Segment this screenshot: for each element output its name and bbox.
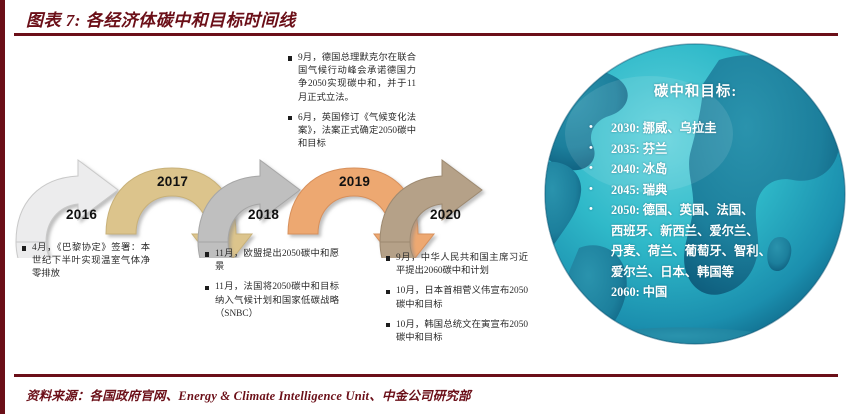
timeline-year-2017: 2017	[157, 174, 188, 189]
list-item: 9月，中华人民共和国主席习近平提出2060碳中和计划	[386, 252, 528, 278]
globe-graphic: 碳中和目标: 2030: 挪威、乌拉圭 2035: 芬兰 2040: 冰岛 20…	[543, 42, 848, 347]
header-divider	[14, 33, 838, 36]
list-item: 4月，《巴黎协定》签署：本世纪下半叶实现温室气体净零排放	[22, 242, 150, 282]
page-title: 图表 7: 各经济体碳中和目标时间线	[26, 6, 296, 31]
list-item: 9月，德国总理默克尔在联合国气候行动峰会承诺德国力争2050实现碳中和，并于11…	[288, 52, 416, 105]
note-block-top: 9月，德国总理默克尔在联合国气候行动峰会承诺德国力争2050实现碳中和，并于11…	[288, 52, 416, 151]
source-note: 资料来源：各国政府官网、Energy & Climate Intelligenc…	[26, 385, 471, 404]
footer-divider	[14, 374, 838, 377]
timeline-year-2020: 2020	[430, 207, 461, 222]
timeline-year-2016: 2016	[66, 207, 97, 222]
note-block-2020: 9月，中华人民共和国主席习近平提出2060碳中和计划 10月，日本首相菅义伟宣布…	[386, 252, 528, 345]
exhibit-figure: 图表 7: 各经济体碳中和目标时间线 9月，德国总理默克尔在联合国气候行动峰会承…	[0, 0, 850, 414]
list-item: 10月，韩国总统文在寅宣布2050碳中和目标	[386, 319, 528, 345]
note-block-2018-2019: 11月，欧盟提出2050碳中和愿景 11月，法国将2050碳中和目标纳入气候计划…	[205, 248, 339, 321]
timeline-year-2019: 2019	[339, 174, 370, 189]
note-block-2016: 4月，《巴黎协定》签署：本世纪下半叶实现温室气体净零排放	[22, 242, 150, 282]
left-accent-bar	[0, 0, 5, 414]
list-item: 11月，法国将2050碳中和目标纳入气候计划和国家低碳战略（SNBC）	[205, 281, 339, 321]
timeline-year-2018: 2018	[248, 207, 279, 222]
list-item: 11月，欧盟提出2050碳中和愿景	[205, 248, 339, 274]
list-item: 6月，英国修订《气候变化法案》，法案正式确定2050碳中和目标	[288, 112, 416, 152]
list-item: 10月，日本首相菅义伟宣布2050碳中和目标	[386, 285, 528, 311]
